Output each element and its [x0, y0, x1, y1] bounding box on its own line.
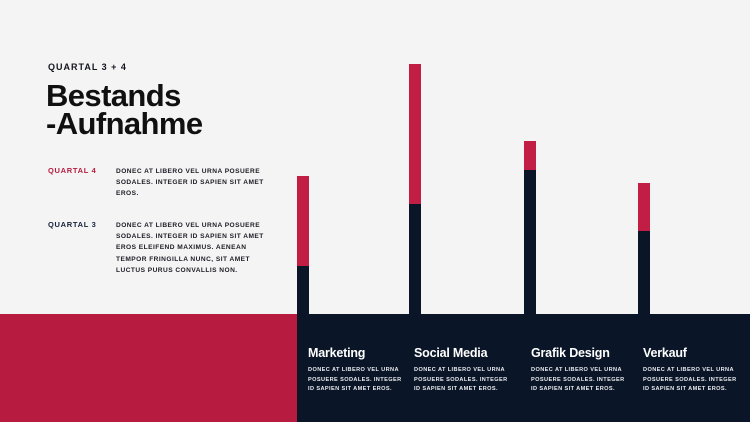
card-body-verkauf: Donec at libero vel urna posuere sodales… — [643, 366, 743, 395]
bar-segment-quartal-4 — [297, 176, 309, 266]
legend-key-quartal-4: QUARTAL 4 — [48, 166, 110, 175]
card-body-social-media: Donec at libero vel urna posuere sodales… — [414, 366, 514, 395]
card-title-marketing: Marketing — [308, 346, 408, 360]
card-title-verkauf: Verkauf — [643, 346, 743, 360]
page-title: Bestands -Aufnahme — [46, 82, 203, 138]
legend-body-quartal-4: Donec at libero vel urna posuere sodales… — [116, 166, 276, 200]
legend-body-quartal-3: Donec at libero vel urna posuere sodales… — [116, 220, 276, 276]
bar-segment-quartal-4 — [409, 64, 421, 205]
bar-segment-quartal-3 — [297, 266, 309, 315]
slide-canvas: QUARTAL 3 + 4 Bestands -Aufnahme QUARTAL… — [0, 0, 750, 422]
card-body-marketing: Donec at libero vel urna posuere sodales… — [308, 366, 408, 395]
card-body-grafik-design: Donec at libero vel urna posuere sodales… — [531, 366, 631, 395]
card-marketing: Marketing Donec at libero vel urna posue… — [308, 346, 408, 395]
title-line-2: -Aufnahme — [46, 110, 203, 138]
bar-marketing — [297, 176, 309, 315]
card-social-media: Social Media Donec at libero vel urna po… — [414, 346, 514, 395]
bar-social-media — [409, 64, 421, 315]
bar-grafik-design — [524, 141, 536, 315]
card-title-social-media: Social Media — [414, 346, 514, 360]
card-verkauf: Verkauf Donec at libero vel urna posuere… — [643, 346, 743, 395]
card-grafik-design: Grafik Design Donec at libero vel urna p… — [531, 346, 631, 395]
bar-verkauf — [638, 183, 650, 315]
card-title-grafik-design: Grafik Design — [531, 346, 631, 360]
eyebrow-label: QUARTAL 3 + 4 — [48, 62, 127, 72]
bottom-red-block — [0, 314, 297, 422]
bar-segment-quartal-3 — [409, 204, 421, 315]
bar-segment-quartal-4 — [524, 141, 536, 171]
legend-key-quartal-3: QUARTAL 3 — [48, 220, 110, 229]
bar-segment-quartal-4 — [638, 183, 650, 231]
bar-segment-quartal-3 — [638, 231, 650, 315]
bar-segment-quartal-3 — [524, 170, 536, 315]
